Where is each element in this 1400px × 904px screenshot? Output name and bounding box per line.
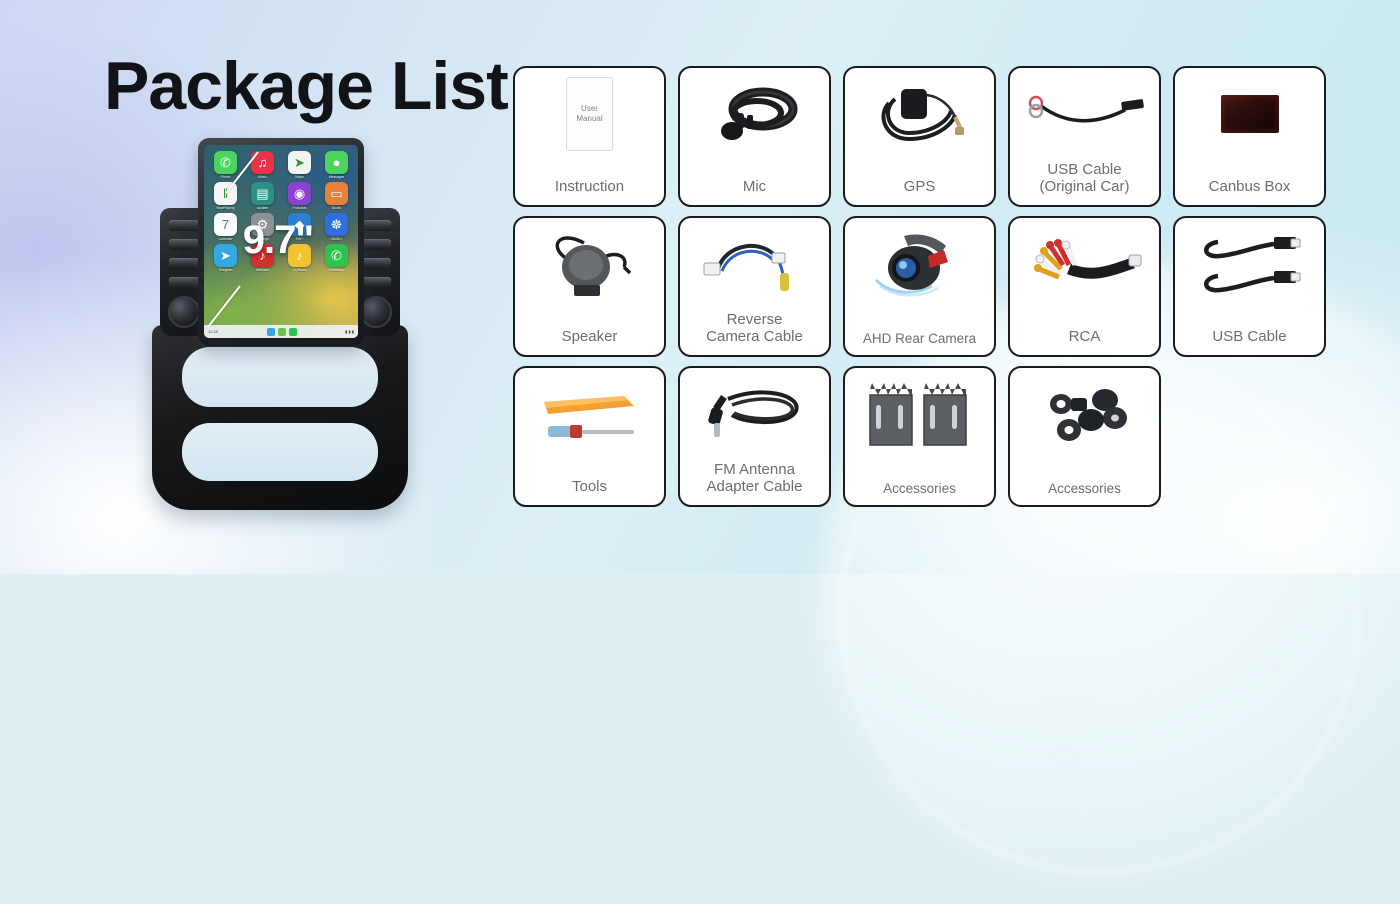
app-tile[interactable]: ➤Maps [283,151,316,179]
package-item-cell[interactable]: Tools [513,366,666,507]
app-label: Music [246,175,279,179]
package-item-label-line: FM Antenna [714,461,795,478]
package-item-label: USB Cable [1208,329,1290,346]
screen-size-label: 9.7" [208,218,348,263]
package-item-cell[interactable]: RCA [1008,216,1161,357]
app-tile[interactable]: ✆Phone [209,151,242,179]
package-item-label: FM AntennaAdapter Cable [703,462,807,496]
package-item-label-line: Tools [572,478,607,495]
product-image: ✆Phone♫Music➤Maps●Messages‖NowPlaying▤Au… [130,130,430,520]
screws-bushings-icon [1010,368,1159,460]
audible-icon: ▤ [251,182,274,205]
side-button[interactable] [169,277,199,288]
package-item-label-line: Accessories [1048,481,1121,496]
package-item-cell[interactable]: Accessories [843,366,996,507]
package-item-label: Instruction [551,179,628,196]
package-item-label-line: Speaker [562,328,618,345]
side-button[interactable] [361,277,391,288]
app-label: Audible [246,206,279,210]
side-button[interactable] [361,239,391,250]
microphone-icon [680,68,829,160]
tools-icon [515,368,664,460]
package-item-label: RCA [1065,329,1105,346]
dock-app-row [267,328,297,336]
screen-statusbar: 12:45 ▮ ▮ ▮ [204,325,358,338]
canbus-box-icon [1175,68,1324,160]
dock-telegram-icon[interactable] [267,328,275,336]
package-item-cell[interactable]: GPS [843,66,996,207]
package-item-label-line: RCA [1069,328,1101,345]
fascia-cutout-lower [182,423,378,481]
app-tile[interactable]: ♫Music [246,151,279,179]
package-item-label-line: (Original Car) [1039,178,1129,195]
package-item-label: AHD Rear Camera [859,331,980,346]
dash-fascia-panel [152,325,408,510]
user-manual-sheet: UserManual [566,77,613,151]
package-item-cell[interactable]: USB Cable [1173,216,1326,357]
app-label: Books [320,206,353,210]
package-item-label: ReverseCamera Cable [702,312,807,346]
tune-knob[interactable] [360,296,392,328]
package-item-label: Accessories [879,481,960,496]
dock-phone-icon[interactable] [289,328,297,336]
usb-original-car-cable-icon [1010,68,1159,160]
package-item-cell[interactable]: Accessories [1008,366,1161,507]
package-item-label: Canbus Box [1205,179,1295,196]
fm-antenna-adapter-cable-icon [680,368,829,460]
package-item-cell[interactable]: ReverseCamera Cable [678,216,831,357]
package-item-cell[interactable]: FM AntennaAdapter Cable [678,366,831,507]
package-item-cell[interactable]: AHD Rear Camera [843,216,996,357]
package-item-label-line: Mic [743,178,766,195]
maps-icon: ➤ [288,151,311,174]
dock-maps-icon[interactable] [278,328,286,336]
side-button[interactable] [169,220,199,231]
rca-harness-icon [1010,218,1159,310]
books-icon: ▭ [325,182,348,205]
package-item-label-line: Camera Cable [706,328,803,345]
reverse-camera-cable-icon [680,218,829,310]
statusbar-clock: 12:45 [208,329,218,334]
page-title: Package List [104,52,508,120]
package-item-cell[interactable]: USB Cable(Original Car) [1008,66,1161,207]
user-manual-icon: UserManual [515,68,664,160]
package-item-cell[interactable]: Canbus Box [1173,66,1326,207]
package-item-label: Tools [568,479,611,496]
package-item-label-line: Instruction [555,178,624,195]
side-button[interactable] [361,258,391,269]
app-label: Messages [320,175,353,179]
fascia-cutout-upper [182,347,378,407]
package-item-cell[interactable]: UserManualInstruction [513,66,666,207]
mounting-brackets-icon [845,368,994,460]
messages-icon: ● [325,151,348,174]
package-item-label-line: GPS [904,178,936,195]
gps-antenna-icon [845,68,994,160]
app-tile[interactable]: ▤Audible [246,182,279,210]
app-label: Maps [283,175,316,179]
ahd-rear-camera-icon [845,218,994,310]
app-tile[interactable]: ◉Podcasts [283,182,316,210]
podcasts-icon: ◉ [288,182,311,205]
volume-knob[interactable] [168,296,200,328]
app-tile[interactable]: ‖NowPlaying [209,182,242,210]
canbus-box-body [1221,95,1279,133]
phone-icon: ✆ [214,151,237,174]
package-item-label: Mic [739,179,770,196]
manual-sheet-text: User [581,104,598,113]
side-button[interactable] [169,239,199,250]
app-label: NowPlaying [209,206,242,210]
package-item-label: USB Cable(Original Car) [1035,162,1133,196]
app-label: WhatsApp [320,268,353,272]
side-button[interactable] [169,258,199,269]
usb-cable-icon [1175,218,1324,310]
side-button[interactable] [361,220,391,231]
package-item-label: GPS [900,179,940,196]
manual-sheet-text: Manual [576,114,602,123]
package-item-label-line: Adapter Cable [707,478,803,495]
package-item-label-line: AHD Rear Camera [863,331,976,346]
app-label: QQMusic [283,268,316,272]
app-tile[interactable]: ●Messages [320,151,353,179]
package-item-label-line: USB Cable [1047,161,1121,178]
statusbar-indicators: ▮ ▮ ▮ [345,329,354,334]
package-item-cell[interactable]: Speaker [513,216,666,357]
app-tile[interactable]: ▭Books [320,182,353,210]
package-item-label-line: USB Cable [1212,328,1286,345]
app-label: Telegram [209,268,242,272]
package-item-label: Speaker [558,329,622,346]
package-item-label-line: Canbus Box [1209,178,1291,195]
package-item-label-line: Reverse [727,311,783,328]
package-item-cell[interactable]: Mic [678,66,831,207]
app-label: NetEase [246,268,279,272]
speaker-icon [515,218,664,310]
package-item-label-line: Accessories [883,481,956,496]
package-contents-grid: UserManualInstructionMicGPSUSB Cable(Ori… [513,66,1325,507]
package-item-label: Accessories [1044,481,1125,496]
app-label: Podcasts [283,206,316,210]
nowplaying-icon: ‖ [214,182,237,205]
